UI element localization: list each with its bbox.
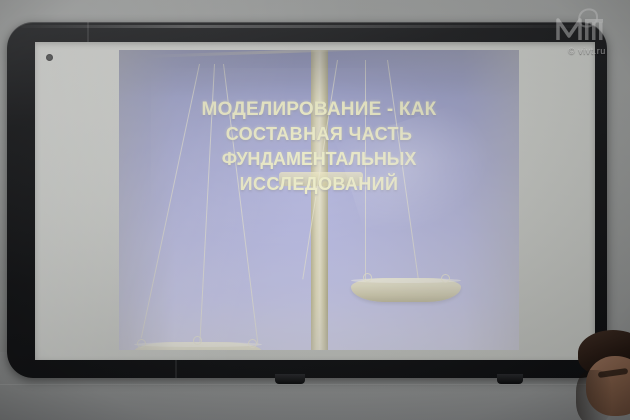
scale-pan-ring (441, 274, 450, 283)
scale-post (311, 50, 328, 350)
slide-title-line-1: МОДЕЛИРОВАНИЕ - КАК (119, 97, 519, 122)
wall-seam-line (0, 384, 630, 385)
whiteboard-frame: МОДЕЛИРОВАНИЕ - КАК СОСТАВНАЯ ЧАСТЬ ФУНД… (7, 22, 607, 378)
scale-pan-ring (193, 336, 202, 345)
frame-mount-tab-left (275, 374, 305, 384)
frame-mount-tab-right (497, 374, 523, 384)
slide-title-line-2: СОСТАВНАЯ ЧАСТЬ (119, 122, 519, 147)
whiteboard-surface: МОДЕЛИРОВАНИЕ - КАК СОСТАВНАЯ ЧАСТЬ ФУНД… (35, 42, 595, 360)
slide-title-line-3: ФУНДАМЕНТАЛЬНЫХ (119, 147, 519, 172)
slide-title-line-4: ИССЛЕДОВАНИЙ (119, 172, 519, 197)
frame-top-highlight (21, 25, 581, 28)
screenshot-root: МОДЕЛИРОВАНИЕ - КАК СОСТАВНАЯ ЧАСТЬ ФУНД… (0, 0, 630, 420)
scale-pan-ring (363, 273, 372, 282)
scale-pan-ring (248, 339, 257, 348)
projected-slide: МОДЕЛИРОВАНИЕ - КАК СОСТАВНАЯ ЧАСТЬ ФУНД… (119, 50, 519, 350)
scales-of-justice-icon (119, 50, 519, 350)
scale-beam (145, 50, 415, 58)
slide-title: МОДЕЛИРОВАНИЕ - КАК СОСТАВНАЯ ЧАСТЬ ФУНД… (119, 97, 519, 197)
scale-pan-ring (137, 339, 146, 348)
board-corner-marker (46, 54, 53, 61)
audience-member (576, 330, 630, 420)
person-shadow (576, 370, 612, 420)
